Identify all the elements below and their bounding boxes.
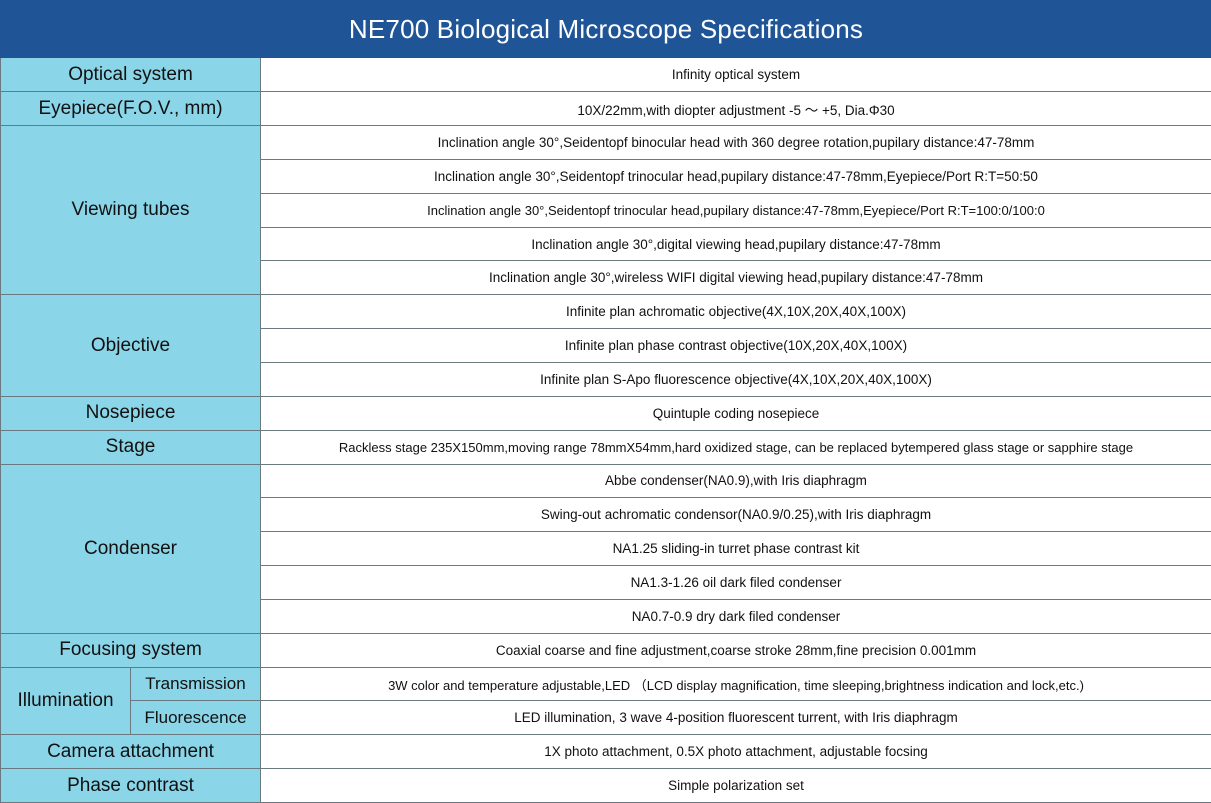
row-value-transmission: 3W color and temperature adjustable,LED … <box>261 667 1211 701</box>
row-label-focusing-system: Focusing system <box>1 633 261 667</box>
row-label-eyepiece: Eyepiece(F.O.V., mm) <box>1 92 261 126</box>
specifications-table: NE700 Biological Microscope Specificatio… <box>0 0 1211 803</box>
row-value-eyepiece: 10X/22mm,with diopter adjustment -5 ～ +5… <box>261 92 1211 126</box>
row-label-phase-contrast: Phase contrast <box>1 769 261 803</box>
row-label-condenser: Condenser <box>1 464 261 633</box>
row-label-objective: Objective <box>1 295 261 397</box>
row-value-viewing-tubes-3: Inclination angle 30°,Seidentopf trinocu… <box>261 193 1211 227</box>
row-value-stage: Rackless stage 235X150mm,moving range 78… <box>261 430 1211 464</box>
row-value-phase-contrast: Simple polarization set <box>261 769 1211 803</box>
table-row: Eyepiece(F.O.V., mm) 10X/22mm,with diopt… <box>1 92 1211 126</box>
row-value-nosepiece: Quintuple coding nosepiece <box>261 396 1211 430</box>
row-label-stage: Stage <box>1 430 261 464</box>
table-row: Stage Rackless stage 235X150mm,moving ra… <box>1 430 1211 464</box>
table-row: Nosepiece Quintuple coding nosepiece <box>1 396 1211 430</box>
table-row: Condenser Abbe condenser(NA0.9),with Iri… <box>1 464 1211 498</box>
row-sublabel-fluorescence: Fluorescence <box>131 701 261 735</box>
row-label-viewing-tubes: Viewing tubes <box>1 126 261 295</box>
row-value-viewing-tubes-5: Inclination angle 30°,wireless WIFI digi… <box>261 261 1211 295</box>
table-row: Objective Infinite plan achromatic objec… <box>1 295 1211 329</box>
row-label-nosepiece: Nosepiece <box>1 396 261 430</box>
row-value-camera-attachment: 1X photo attachment, 0.5X photo attachme… <box>261 735 1211 769</box>
row-value-viewing-tubes-2: Inclination angle 30°,Seidentopf trinocu… <box>261 159 1211 193</box>
row-value-objective-3: Infinite plan S-Apo fluorescence objecti… <box>261 363 1211 397</box>
table-row: Illumination Transmission 3W color and t… <box>1 667 1211 701</box>
table-row: Phase contrast Simple polarization set <box>1 769 1211 803</box>
row-value-viewing-tubes-4: Inclination angle 30°,digital viewing he… <box>261 227 1211 261</box>
row-value-optical-system: Infinity optical system <box>261 58 1211 92</box>
row-value-condenser-3: NA1.25 sliding-in turret phase contrast … <box>261 532 1211 566</box>
table-title-row: NE700 Biological Microscope Specificatio… <box>1 1 1211 58</box>
row-label-camera-attachment: Camera attachment <box>1 735 261 769</box>
row-value-viewing-tubes-1: Inclination angle 30°,Seidentopf binocul… <box>261 126 1211 160</box>
row-value-fluorescence: LED illumination, 3 wave 4-position fluo… <box>261 701 1211 735</box>
row-value-condenser-1: Abbe condenser(NA0.9),with Iris diaphrag… <box>261 464 1211 498</box>
table-row: Optical system Infinity optical system <box>1 58 1211 92</box>
row-value-condenser-2: Swing-out achromatic condensor(NA0.9/0.2… <box>261 498 1211 532</box>
table-row: Focusing system Coaxial coarse and fine … <box>1 633 1211 667</box>
row-value-focusing-system: Coaxial coarse and fine adjustment,coars… <box>261 633 1211 667</box>
row-value-condenser-4: NA1.3-1.26 oil dark filed condenser <box>261 566 1211 600</box>
table-row: Fluorescence LED illumination, 3 wave 4-… <box>1 701 1211 735</box>
row-value-objective-2: Infinite plan phase contrast objective(1… <box>261 329 1211 363</box>
table-row: Viewing tubes Inclination angle 30°,Seid… <box>1 126 1211 160</box>
table-row: Camera attachment 1X photo attachment, 0… <box>1 735 1211 769</box>
row-sublabel-transmission: Transmission <box>131 667 261 701</box>
page-title: NE700 Biological Microscope Specificatio… <box>1 1 1211 58</box>
row-value-condenser-5: NA0.7-0.9 dry dark filed condenser <box>261 599 1211 633</box>
row-value-objective-1: Infinite plan achromatic objective(4X,10… <box>261 295 1211 329</box>
row-label-optical-system: Optical system <box>1 58 261 92</box>
row-label-illumination: Illumination <box>1 667 131 735</box>
